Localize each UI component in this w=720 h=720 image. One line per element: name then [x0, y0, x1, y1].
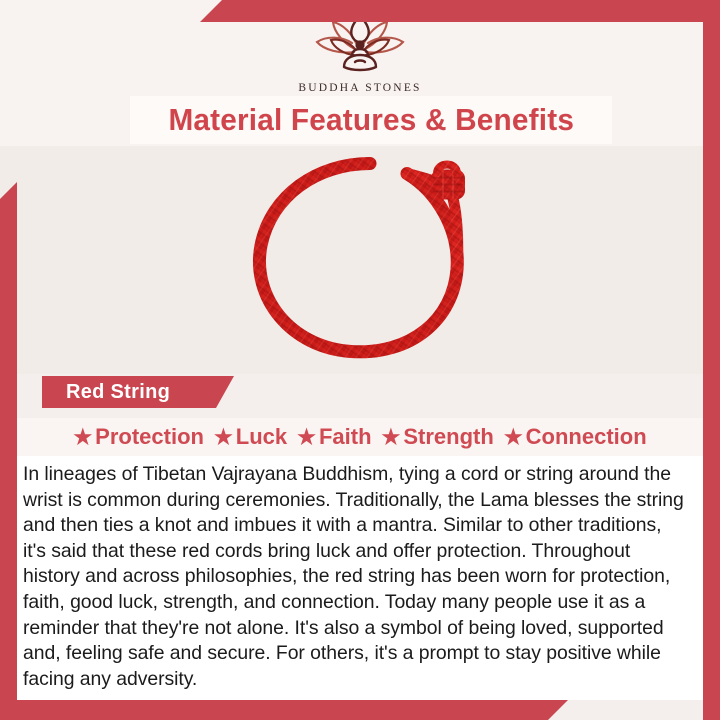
feature-list: ★ Protection ★ Luck ★ Faith ★ Strength ★… [17, 418, 703, 456]
product-image-area [0, 146, 720, 374]
feature-item-faith: ★ Faith [294, 424, 374, 450]
feature-item-protection: ★ Protection [70, 424, 207, 450]
star-icon: ★ [214, 427, 233, 448]
product-name-ribbon: Red String [42, 376, 234, 408]
star-icon: ★ [297, 427, 316, 448]
frame-bar-left [0, 182, 17, 720]
feature-label: Luck [236, 424, 287, 450]
feature-label: Connection [526, 424, 647, 450]
product-name-label: Red String [66, 381, 170, 404]
red-braided-string-bracelet-icon [231, 152, 489, 369]
star-icon: ★ [382, 427, 401, 448]
brand-name: BUDDHA STONES [298, 82, 421, 94]
description-panel: In lineages of Tibetan Vajrayana Buddhis… [17, 456, 703, 700]
feature-label: Faith [319, 424, 372, 450]
star-icon: ★ [73, 427, 92, 448]
page-title: Material Features & Benefits [168, 102, 574, 138]
feature-label: Protection [95, 424, 204, 450]
brand-logo: BUDDHA STONES [0, 12, 720, 94]
frame-bar-top-right [200, 0, 720, 22]
frame-bar-bottom [0, 700, 568, 720]
lotus-meditation-icon [314, 12, 406, 79]
frame-bar-right [703, 22, 720, 720]
star-icon: ★ [504, 427, 523, 448]
description-text: In lineages of Tibetan Vajrayana Buddhis… [23, 462, 689, 692]
feature-label: Strength [403, 424, 493, 450]
feature-item-strength: ★ Strength [379, 424, 497, 450]
infographic-poster: BUDDHA STONES Material Features & Benefi… [0, 0, 720, 720]
page-title-band: Material Features & Benefits [130, 96, 612, 144]
feature-item-luck: ★ Luck [211, 424, 290, 450]
feature-item-connection: ★ Connection [501, 424, 650, 450]
